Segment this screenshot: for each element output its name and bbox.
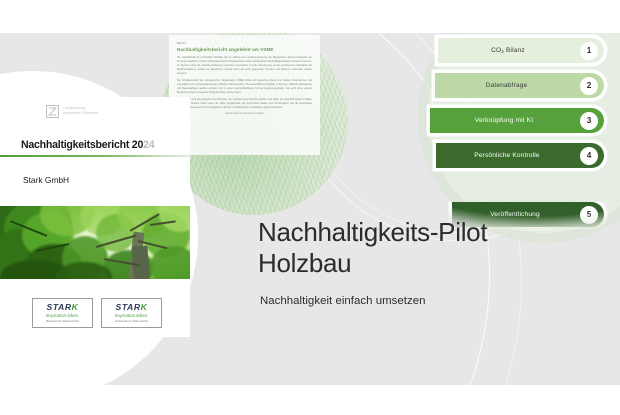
landesinnung-logo-text: Landesinnung Bayerischer Zimmerer — [63, 106, 98, 116]
report-cover-company: Stark GmbH — [23, 175, 194, 185]
process-step-4-label: Persönliche Kontrolle — [474, 152, 565, 159]
slide-title-line2: Holzbau — [258, 248, 608, 279]
process-step-3[interactable]: Verknüpfung mit KI 3 — [430, 108, 604, 133]
report-cover-title-main: Nachhaltigkeitsbericht 20 — [21, 139, 143, 151]
landesinnung-mark-icon — [46, 105, 59, 118]
landesinnung-logo-line1: Landesinnung — [63, 106, 86, 110]
document-paragraph: Damit eignet sich das Vorgehen fuer Betr… — [177, 98, 312, 110]
slide-headline-block: Nachhaltigkeits-Pilot Holzbau Nachhaltig… — [258, 217, 608, 307]
process-steps-list: CO2 Bilanz 1 Datenabfrage 2 Verknüpfung … — [430, 33, 620, 208]
document-paragraph: Die Gesellschaft für Information Holzbau… — [177, 56, 312, 76]
document-heading: Nachhaltigkeitsbericht angelehnt am VSME — [177, 47, 312, 52]
process-step-2[interactable]: Datenabfrage 2 — [435, 73, 604, 98]
report-cover-divider — [0, 155, 190, 157]
slide-subtitle: Nachhaltigkeit einfach umsetzen — [260, 295, 608, 307]
process-step-1-number: 1 — [580, 42, 598, 60]
report-cover-title-year: 24 — [143, 139, 154, 151]
stark-logo-row: STARK Inspiration leben. Bauzentrum Star… — [32, 298, 194, 328]
stark-wordmark: STARK — [47, 302, 79, 312]
stark-wordmark: STARK — [116, 302, 148, 312]
process-step-3-label: Verknüpfung mit KI — [475, 117, 559, 124]
process-step-1[interactable]: CO2 Bilanz 1 — [438, 38, 604, 63]
slide-title-line1: Nachhaltigkeits-Pilot — [258, 217, 608, 248]
process-step-2-number: 2 — [580, 77, 598, 95]
process-step-2-label: Datenabfrage — [486, 82, 554, 89]
stark-logo-bauzentrum: STARK Inspiration leben. Bauzentrum Star… — [32, 298, 93, 328]
stark-wordmark-k: K — [141, 302, 148, 312]
presentation-slide: Bericht Nachhaltigkeitsbericht angelehnt… — [0, 33, 620, 385]
landesinnung-logo: Landesinnung Bayerischer Zimmerer — [46, 103, 194, 119]
stark-subline: Holzzentrum Stark GmbH — [115, 319, 148, 323]
document-eyebrow: Bericht — [177, 42, 312, 45]
report-cover-title: Nachhaltigkeitsbericht 2024 — [21, 139, 194, 151]
tree-canopy-photo — [0, 206, 190, 279]
stark-tagline: Inspiration leben. — [46, 313, 80, 318]
document-footer: Gesellschaft fuer Information Holzbau — [177, 113, 312, 115]
stark-wordmark-k: K — [72, 302, 79, 312]
landesinnung-logo-line2: Bayerischer Zimmerer — [63, 111, 98, 115]
report-cover-content: Landesinnung Bayerischer Zimmerer Nachha… — [14, 103, 194, 365]
process-step-1-label: CO2 Bilanz — [491, 47, 551, 54]
stark-wordmark-left: STAR — [116, 302, 141, 312]
document-paragraph: Der Inhaltsstandard der europaeischen Or… — [177, 79, 312, 95]
process-step-3-number: 3 — [580, 112, 598, 130]
stark-logo-holzzentrum: STARK Inspiration leben. Holzzentrum Sta… — [101, 298, 162, 328]
stark-tagline: Inspiration leben. — [115, 313, 149, 318]
stark-subline: Bauzentrum Stark GmbH — [46, 319, 78, 323]
process-step-4[interactable]: Persönliche Kontrolle 4 — [436, 143, 604, 168]
process-step-4-number: 4 — [580, 147, 598, 165]
stark-wordmark-left: STAR — [47, 302, 72, 312]
